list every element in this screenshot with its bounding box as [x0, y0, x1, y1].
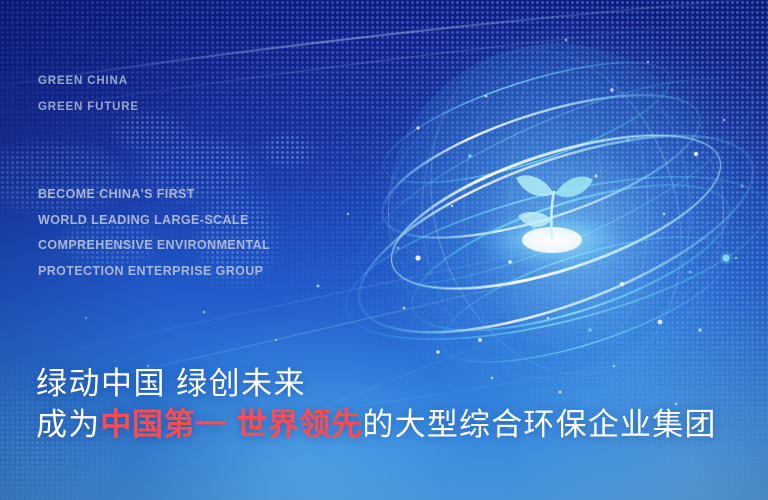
caption-mid-line-1: BECOME CHINA'S FIRST [38, 182, 270, 208]
caption-mid-line-3: COMPREHENSIVE ENVIRONMENTAL [38, 233, 270, 259]
banner-root: GREEN CHINA GREEN FUTURE BECOME CHINA'S … [0, 0, 768, 500]
caption-mid-block: BECOME CHINA'S FIRST WORLD LEADING LARGE… [38, 182, 270, 284]
globe-svg [360, 22, 768, 422]
headline-line-2-accent: 中国第一 世界领先 [100, 407, 362, 442]
wireframe-globe [360, 22, 768, 422]
caption-mid-line-2: WORLD LEADING LARGE-SCALE [38, 208, 270, 234]
headline-line-2: 成为中国第一 世界领先的大型综合环保企业集团 [36, 404, 717, 446]
headline-line-2-suffix: 的大型综合环保企业集团 [362, 407, 716, 442]
caption-top-line-2: GREEN FUTURE [38, 94, 139, 120]
headline-block: 绿动中国 绿创未来 成为中国第一 世界领先的大型综合环保企业集团 [36, 364, 717, 446]
headline-line-1: 绿动中国 绿创未来 [36, 364, 717, 404]
caption-top-line-1: GREEN CHINA [38, 68, 139, 94]
caption-mid-line-4: PROTECTION ENTERPRISE GROUP [38, 259, 270, 285]
headline-line-2-prefix: 成为 [36, 407, 100, 442]
caption-top-block: GREEN CHINA GREEN FUTURE [38, 68, 139, 120]
